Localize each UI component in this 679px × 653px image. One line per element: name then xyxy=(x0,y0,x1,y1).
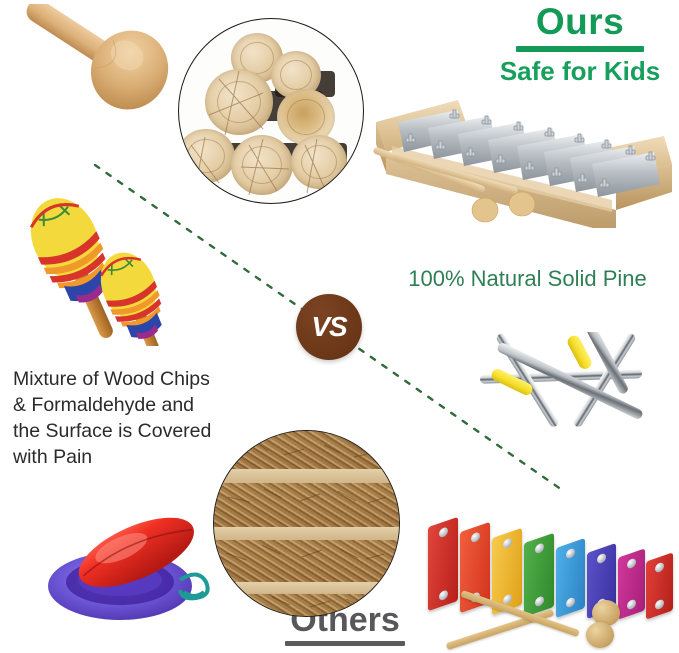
wooden-glockenspiel xyxy=(372,88,672,228)
pine-logs-inset xyxy=(178,18,364,204)
plastic-castanet xyxy=(34,508,214,630)
xylo-bar xyxy=(524,533,554,617)
chrome-triangle xyxy=(462,332,662,460)
others-heading-underline xyxy=(285,641,405,646)
vs-badge-label: VS xyxy=(296,294,362,360)
xylo-bar xyxy=(646,552,673,619)
xylo-bar xyxy=(428,517,458,611)
ours-heading: Ours xyxy=(505,2,655,42)
vs-badge: VS xyxy=(296,294,362,360)
warning-line-2: & Formaldehyde and xyxy=(13,392,268,418)
ours-heading-underline xyxy=(516,46,644,52)
colored-xylophone xyxy=(424,508,676,650)
particleboard-inset xyxy=(213,430,400,617)
ours-subtitle: Safe for Kids xyxy=(480,56,679,86)
painted-maracas xyxy=(22,186,182,346)
pine-material-claim: 100% Natural Solid Pine xyxy=(385,265,670,293)
infographic-canvas: Ours Safe for Kids 100% Natural Solid Pi… xyxy=(0,0,679,653)
xylo-bar xyxy=(556,538,585,618)
xylo-bar xyxy=(618,548,645,619)
warning-line-1: Mixture of Wood Chips xyxy=(13,366,268,392)
xylo-mallet-head xyxy=(586,622,614,648)
wooden-maraca xyxy=(8,4,183,122)
